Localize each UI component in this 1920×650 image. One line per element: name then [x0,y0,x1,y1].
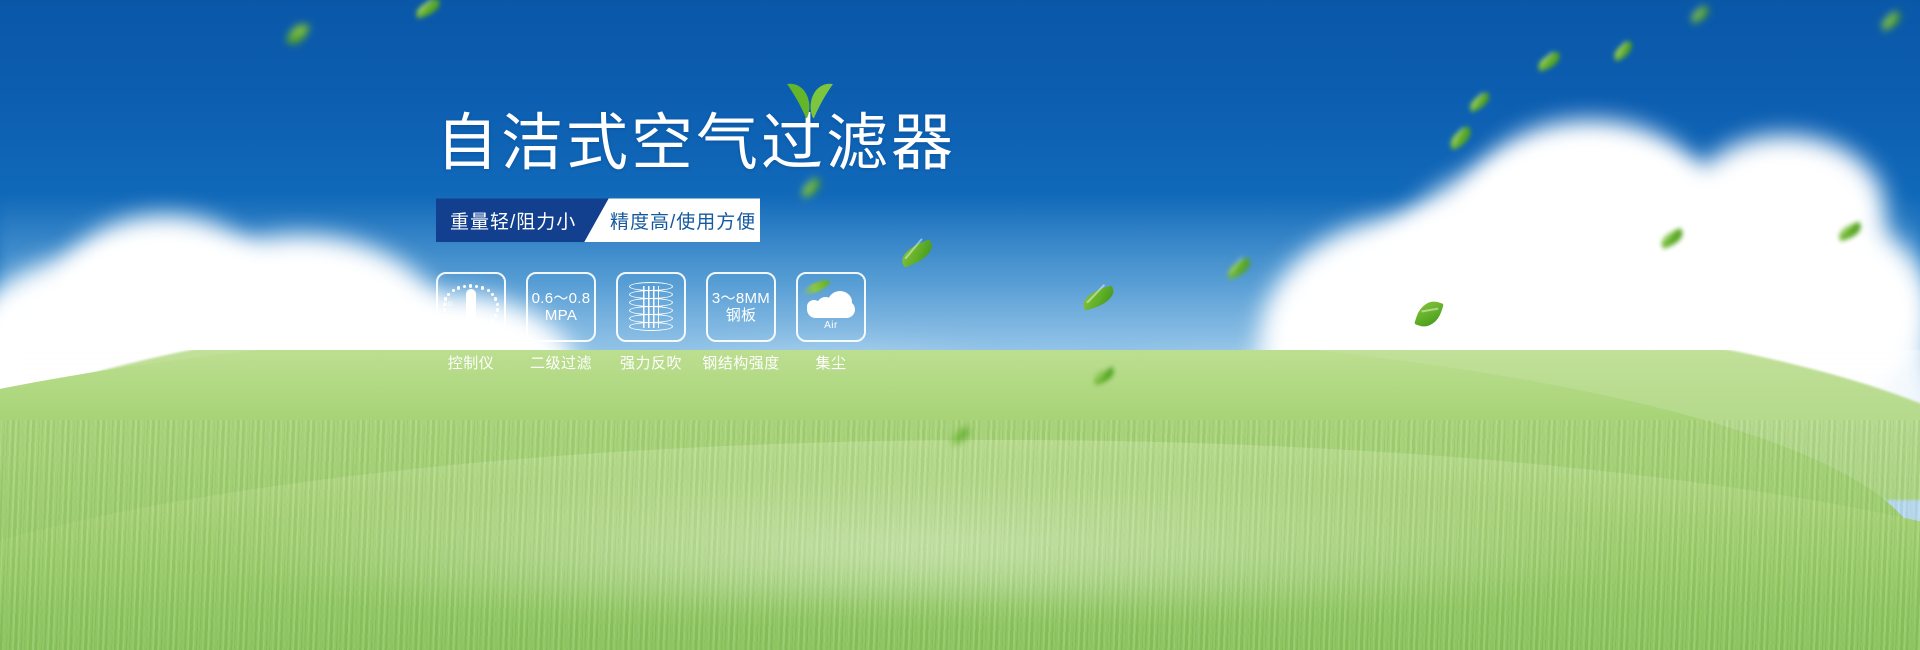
gauge-icon: NO OFF [442,280,500,334]
gauge-label-off: OFF [483,324,496,330]
banner-content: 自洁式空气过滤器 重量轻/阻力小 精度高/使用方便 [436,112,1056,373]
green-streak [800,278,831,298]
leaf-icon [1467,92,1493,113]
leaf-icon [414,0,443,19]
feature-icon-row: NO OFF 控制仪 0.6～0.8 MPA 二级过滤 [436,272,1056,373]
gauge-needle [466,289,476,323]
feature-tag-bar: 重量轻/阻力小 精度高/使用方便 [436,198,760,242]
leaf-icon [286,20,311,49]
feature-item-back-blow: 强力反吹 [616,272,686,373]
feature-item-steel-strength: 3～8MM 钢板 钢结构强度 [706,272,776,373]
feature-label: 强力反吹 [620,352,682,373]
tag-precision-convenient: 精度高/使用方便 [584,198,760,242]
gauge-label-no: NO [443,302,453,308]
title-row: 自洁式空气过滤器 [436,112,956,176]
leaf-icon [1446,126,1475,151]
feature-item-two-stage-filter: 0.6～0.8 MPA 二级过滤 [526,272,596,373]
grass-field [0,350,1920,650]
leaf-icon [1610,40,1635,61]
page-title: 自洁式空气过滤器 [436,112,956,176]
pressure-value-line1: 0.6～0.8 [532,290,591,308]
grass-highlight [192,465,1651,605]
leaf-icon [1878,11,1903,32]
feature-icon-box [616,272,686,342]
feature-label: 钢结构强度 [702,352,780,373]
steel-value-line1: 3～8MM [712,290,770,308]
filter-cartridge-icon [629,282,673,332]
cloud-shape [1685,135,1885,285]
feature-icon-box: 0.6～0.8 MPA [526,272,596,342]
leaf-sprout-icon [784,78,836,118]
leaf-icon [1689,5,1712,23]
feature-label: 集尘 [815,352,846,373]
feature-icon-box: Air [796,272,866,342]
leaf-icon [1536,51,1563,71]
cloud-shape [1465,120,1715,305]
air-cloud-icon: Air [805,287,857,327]
feature-label: 控制仪 [448,352,495,373]
steel-value-line2: 钢板 [726,307,757,325]
feature-item-dust-collection: Air 集尘 [796,272,866,373]
cloud-base [807,301,855,318]
product-banner: 自洁式空气过滤器 重量轻/阻力小 精度高/使用方便 [0,0,1920,650]
feature-item-controller: NO OFF 控制仪 [436,272,506,373]
feature-icon-box: 3～8MM 钢板 [706,272,776,342]
air-label: Air [805,320,857,331]
feature-icon-box: NO OFF [436,272,506,342]
feature-label: 二级过滤 [530,352,592,373]
pressure-value-line2: MPA [545,307,577,325]
